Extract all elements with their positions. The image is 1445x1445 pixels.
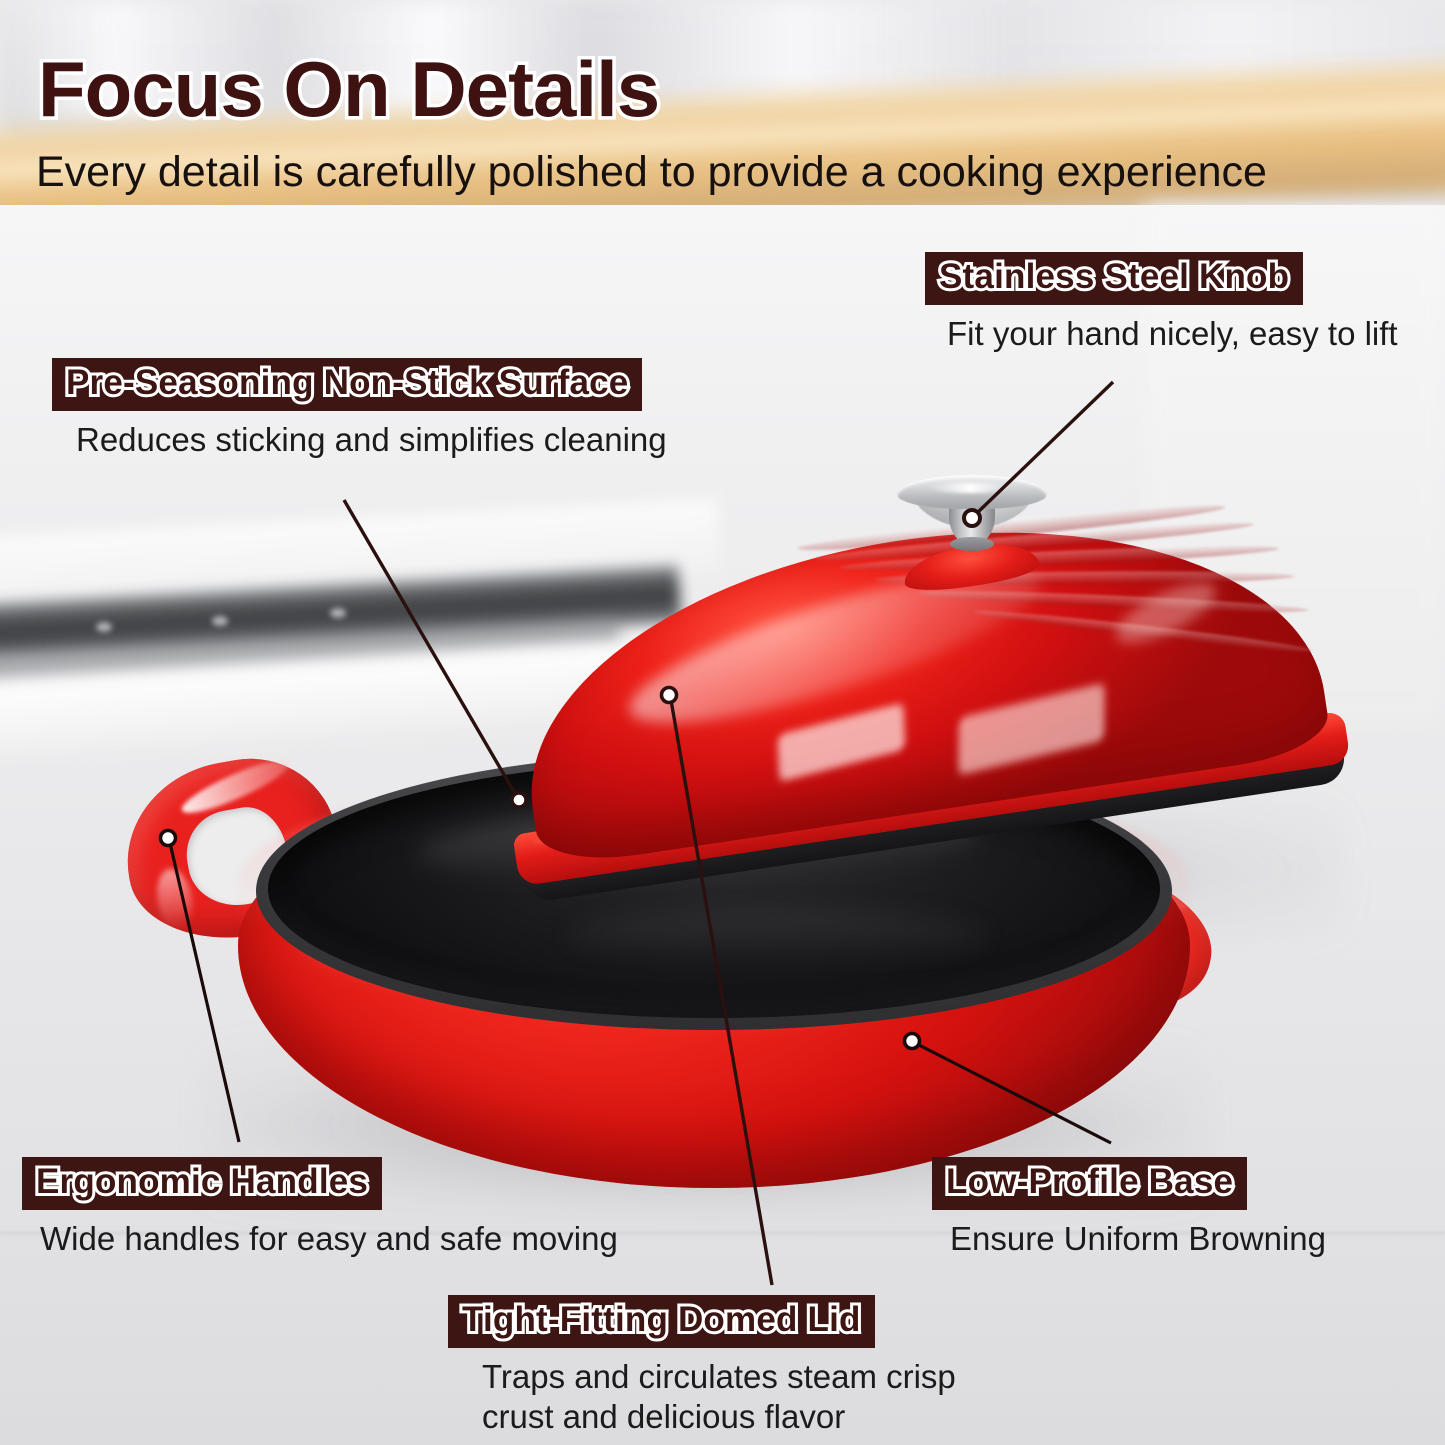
callout-title-stainless-steel-knob: Stainless Steel Knob: [925, 252, 1303, 305]
callout-desc-tight-fitting-domed-lid: Traps and circulates steam crisp crust a…: [482, 1357, 956, 1438]
callout-desc-pre-seasoning-non-stick-surface: Reduces sticking and simplifies cleaning: [76, 420, 667, 460]
knob-top-highlight: [927, 483, 1013, 493]
lid-highlight-reflection-1: [777, 703, 905, 783]
callout-low-profile-base: Low-Profile Base Ensure Uniform Browning: [932, 1157, 1326, 1259]
callout-tight-fitting-domed-lid: Tight-Fitting Domed Lid Traps and circul…: [448, 1295, 956, 1438]
page-title: Focus On Details: [38, 44, 659, 135]
callout-title-tight-fitting-domed-lid: Tight-Fitting Domed Lid: [448, 1295, 875, 1348]
infographic-canvas: Focus On Details Every detail is careful…: [0, 0, 1445, 1445]
callout-stainless-steel-knob: Stainless Steel Knob Fit your hand nicel…: [925, 252, 1398, 354]
callout-desc-stainless-steel-knob: Fit your hand nicely, easy to lift: [947, 314, 1398, 354]
callout-desc-ergonomic-handles: Wide handles for easy and safe moving: [40, 1219, 618, 1259]
callout-desc-low-profile-base: Ensure Uniform Browning: [950, 1219, 1326, 1259]
callout-pre-seasoning-non-stick-surface: Pre-Seasoning Non-Stick Surface Reduces …: [52, 358, 667, 460]
callout-title-pre-seasoning-non-stick-surface: Pre-Seasoning Non-Stick Surface: [52, 358, 642, 411]
callout-title-ergonomic-handles: Ergonomic Handles: [22, 1157, 382, 1210]
knob-base-collar: [950, 537, 994, 551]
callout-ergonomic-handles: Ergonomic Handles Wide handles for easy …: [22, 1157, 618, 1259]
callout-title-low-profile-base: Low-Profile Base: [932, 1157, 1247, 1210]
stainless-steel-knob: [897, 475, 1047, 545]
lid-highlight-reflection-2: [958, 683, 1104, 776]
page-subtitle: Every detail is carefully polished to pr…: [36, 148, 1267, 197]
